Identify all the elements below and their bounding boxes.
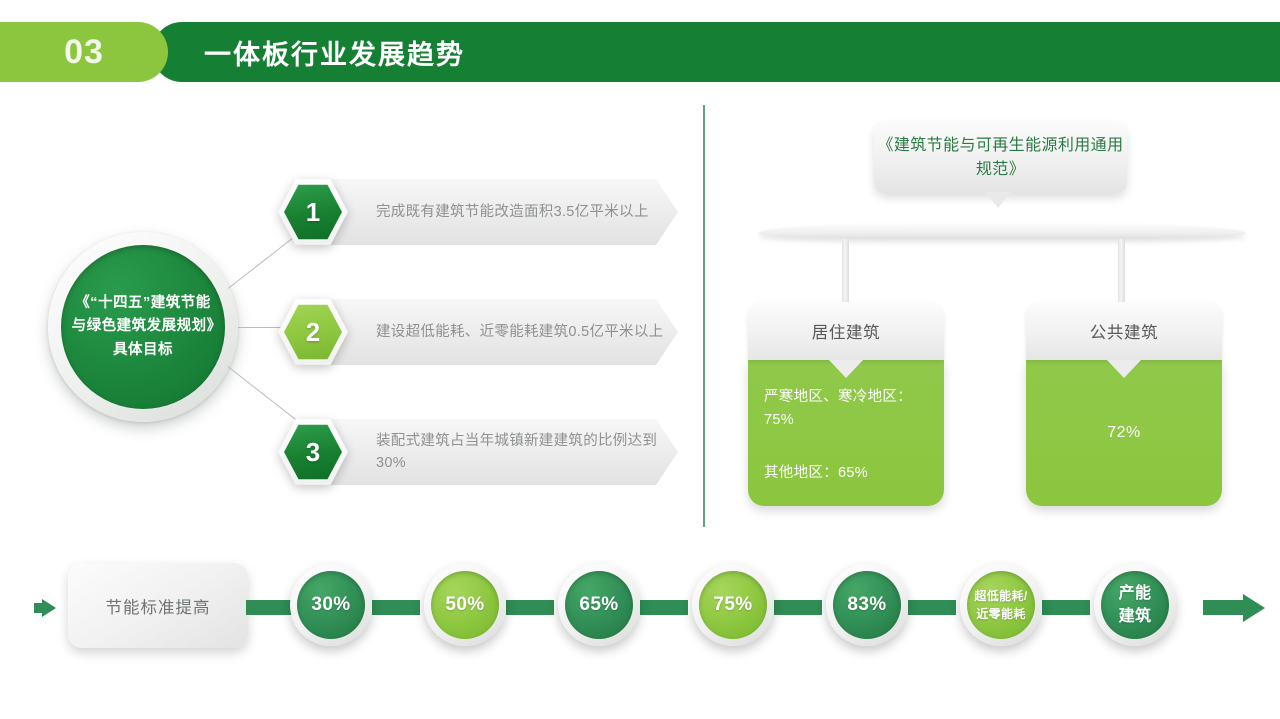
timeline-step[interactable]: 65% [558,564,640,646]
card-body: 72% [1026,360,1222,506]
timeline-step-fill: 超低能耗/ 近零能耗 [967,571,1035,639]
timeline-segment [774,600,822,615]
timeline-step[interactable]: 75% [692,564,774,646]
goal-number: 1 [306,197,320,228]
goal-hexagon: 2 [278,297,348,367]
spec-title-text: 《建筑节能与可再生能源利用通用规范》 [874,134,1127,183]
page-title: 一体板行业发展趋势 [204,22,465,82]
goal-number: 3 [306,437,320,468]
timeline-step-label: 产能 建筑 [1119,582,1152,628]
goal-row[interactable]: 装配式建筑占当年城镇新建建筑的比例达到30% 3 [278,419,678,485]
building-card-residential[interactable]: 严寒地区、寒冷地区： 75% 其他地区：65% 居住建筑 [748,302,944,506]
card-line-2: 75% [764,412,794,428]
card-header: 居住建筑 [748,302,944,360]
spec-box-pointer-icon [985,192,1011,208]
panel-divider [703,105,705,527]
timeline-start-label: 节能标准提高 [106,594,211,618]
timeline-segment [908,600,956,615]
timeline-segment [246,600,296,615]
timeline-step-label: 超低能耗/ 近零能耗 [974,587,1027,623]
tree-drop-line-right [1118,239,1125,303]
timeline-step-fill: 产能 建筑 [1101,571,1169,639]
tree-bracket-bar [758,224,1246,239]
timeline-step[interactable]: 产能 建筑 [1094,564,1176,646]
goal-hexagon: 1 [278,177,348,247]
goal-text: 完成既有建筑节能改造面积3.5亿平米以上 [376,179,676,245]
timeline-step-label: 30% [311,594,350,616]
timeline-step-fill: 75% [699,571,767,639]
card-body-text: 严寒地区、寒冷地区： 75% 其他地区：65% [764,386,932,486]
spec-title-box: 《建筑节能与可再生能源利用通用规范》 [874,122,1127,194]
goal-text: 装配式建筑占当年城镇新建建筑的比例达到30% [376,419,676,485]
goal-center-circle: 《“十四五”建筑节能与绿色建筑发展规划》具体目标 [48,232,238,422]
timeline-step-fill: 83% [833,571,901,639]
goal-hexagon: 3 [278,417,348,487]
timeline-step[interactable]: 83% [826,564,908,646]
circle-face: 《“十四五”建筑节能与绿色建筑发展规划》具体目标 [61,245,225,409]
card-header-text: 公共建筑 [1090,319,1158,343]
card-value: 72% [1026,360,1222,506]
timeline-step-label: 50% [445,594,484,616]
timeline-end-arrow-icon [1243,594,1265,622]
building-card-public[interactable]: 72% 公共建筑 [1026,302,1222,506]
card-line-1: 严寒地区、寒冷地区： [764,389,912,405]
goal-number: 2 [306,317,320,348]
timeline-start-box[interactable]: 节能标准提高 [68,563,248,648]
slide-header: 03 一体板行业发展趋势 [0,22,1280,82]
timeline-segment [1042,600,1090,615]
timeline-step-fill: 65% [565,571,633,639]
circle-label: 《“十四五”建筑节能与绿色建筑发展规划》具体目标 [61,292,225,362]
section-number: 03 [0,22,168,82]
timeline-step[interactable]: 50% [424,564,506,646]
card-header-text: 居住建筑 [812,319,880,343]
card-body: 严寒地区、寒冷地区： 75% 其他地区：65% [748,360,944,506]
timeline-step-label: 83% [847,594,886,616]
timeline-step[interactable]: 30% [290,564,372,646]
timeline-segment [506,600,554,615]
timeline-segment [372,600,420,615]
timeline-step-fill: 50% [431,571,499,639]
tree-drop-line-left [842,239,849,303]
card-spacer [764,432,932,462]
timeline-start-arrow-icon [42,599,56,617]
timeline-end-arrow-stem [1203,600,1247,615]
card-notch-icon [1107,360,1141,378]
timeline-step-label: 65% [579,594,618,616]
card-header: 公共建筑 [1026,302,1222,360]
timeline-step-fill: 30% [297,571,365,639]
slide-root: 03 一体板行业发展趋势 《“十四五”建筑节能与绿色建筑发展规划》具体目标 完成… [0,0,1280,719]
timeline-step[interactable]: 超低能耗/ 近零能耗 [960,564,1042,646]
timeline-step-label: 75% [713,594,752,616]
goal-row[interactable]: 建设超低能耗、近零能耗建筑0.5亿平米以上 2 [278,299,678,365]
timeline-segment [640,600,688,615]
card-line-3: 其他地区：65% [764,465,868,481]
goal-text: 建设超低能耗、近零能耗建筑0.5亿平米以上 [376,299,676,365]
goal-row[interactable]: 完成既有建筑节能改造面积3.5亿平米以上 1 [278,179,678,245]
card-notch-icon [829,360,863,378]
